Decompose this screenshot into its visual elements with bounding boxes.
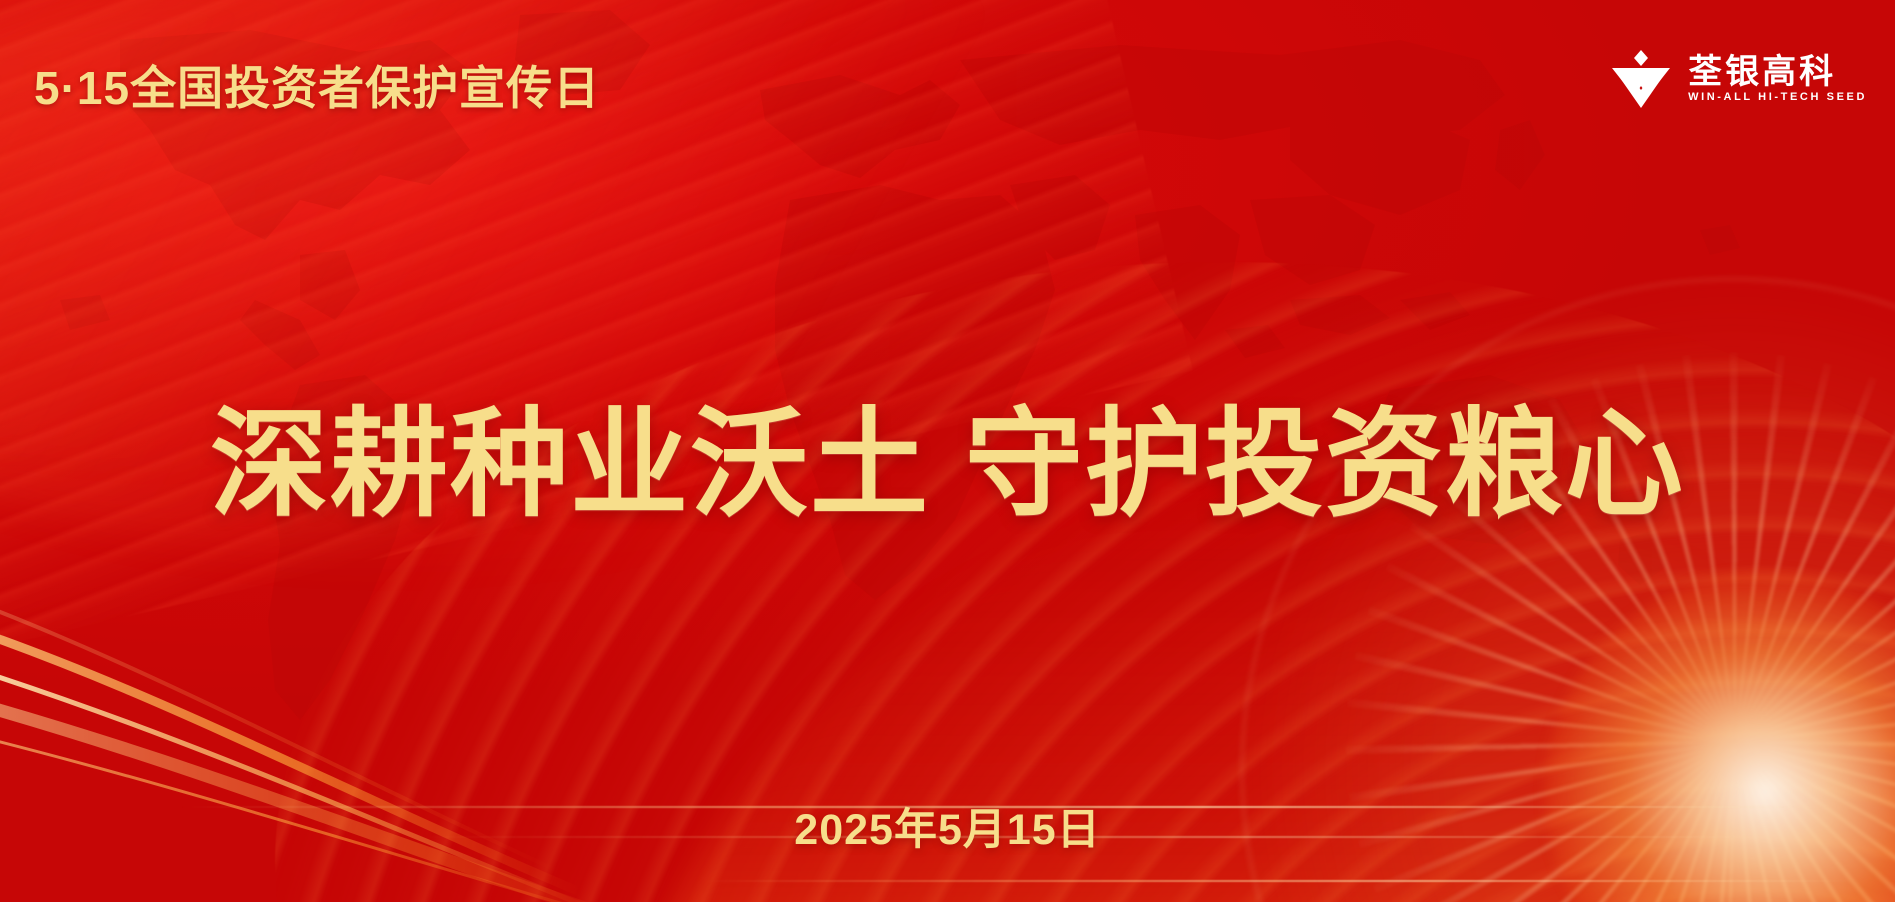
main-headline: 深耕种业沃土 守护投资粮心 <box>0 402 1895 529</box>
logo-name-en: WIN-ALL HI-TECH SEED <box>1688 92 1867 103</box>
sprout-chevron-logo-icon <box>1608 48 1674 110</box>
company-logo: 荃银高科 WIN-ALL HI-TECH SEED <box>1608 48 1867 110</box>
investor-protection-banner: 5·15全国投资者保护宣传日 荃银高科 WIN-ALL HI-TECH SEED… <box>0 0 1895 902</box>
logo-name-cn: 荃银高科 <box>1688 55 1867 89</box>
event-date: 2025年5月15日 <box>0 795 1895 857</box>
campaign-eyebrow-title: 5·15全国投资者保护宣传日 <box>34 52 600 118</box>
